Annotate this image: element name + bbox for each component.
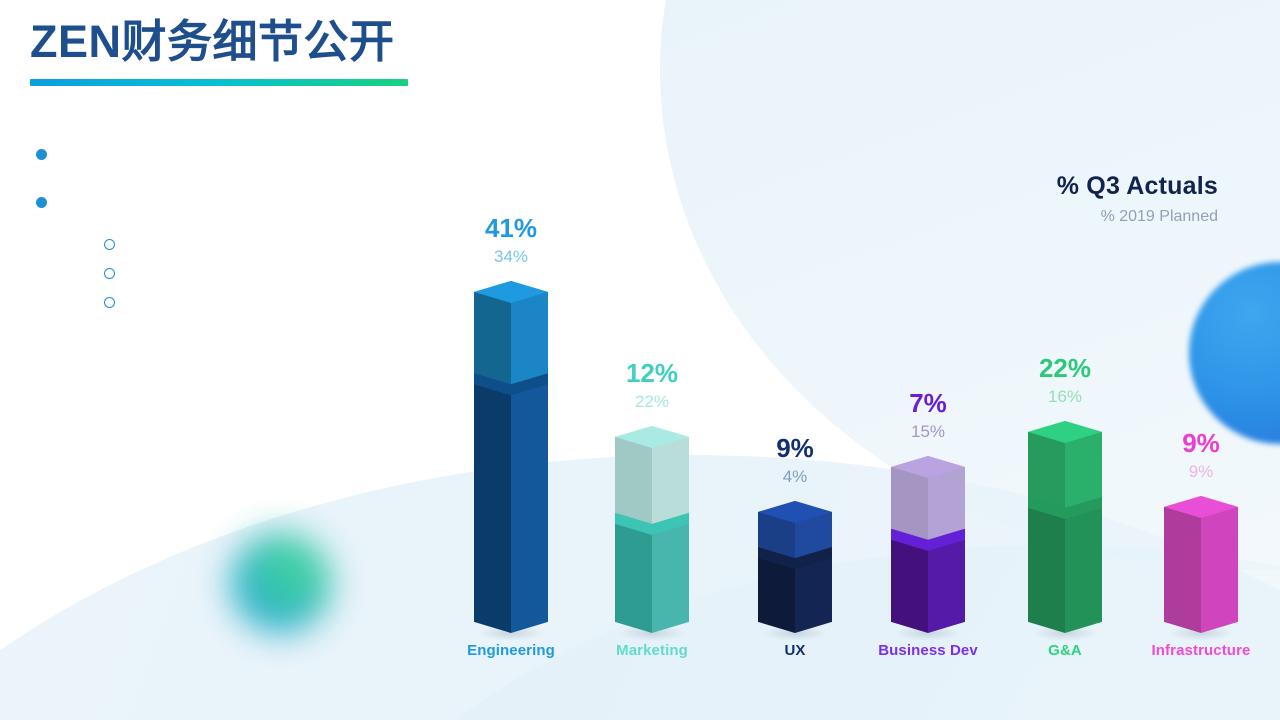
bar-face-right	[1065, 432, 1102, 508]
bar-category-label: G&A	[1000, 642, 1130, 659]
bar-face-right	[652, 524, 689, 622]
bar-value-planned: 4%	[730, 468, 860, 485]
legend-secondary-label: % 2019 Planned	[1057, 208, 1218, 226]
bar-value-planned: 22%	[587, 393, 717, 410]
bar-chart: 41%34%Engineering12%22%Marketing9%4%UX7%…	[420, 170, 1280, 690]
bar-segment-actual	[891, 540, 965, 622]
bar-face-left	[474, 292, 511, 384]
bar-3d-box	[1028, 421, 1102, 633]
bar-segment-planned	[1028, 432, 1102, 508]
bullet-dot-icon	[36, 197, 47, 208]
bar-category-label: Marketing	[587, 642, 717, 659]
bar-value-planned: 9%	[1136, 463, 1266, 480]
bar-value-actual: 7%	[863, 390, 993, 416]
bar-face-left	[474, 384, 511, 622]
bullet-list	[28, 138, 458, 315]
bar-face-left	[891, 467, 928, 540]
chart-legend: % Q3 Actuals % 2019 Planned	[1057, 172, 1218, 226]
bar-face-right	[928, 540, 965, 622]
sub-bullet-ring-icon	[104, 297, 115, 308]
sub-bullet-item	[104, 286, 458, 308]
bar-column[interactable]: 41%34%Engineering	[446, 215, 576, 659]
bar-value-planned: 34%	[446, 248, 576, 265]
bar-column[interactable]: 22%16%G&A	[1000, 355, 1130, 659]
bar-face-right	[928, 467, 965, 540]
title-underline-gradient	[30, 79, 408, 86]
bar-column[interactable]: 7%15%Business Dev	[863, 390, 993, 659]
bar-column[interactable]: 9%4%UX	[730, 435, 860, 659]
bar-value-actual: 9%	[730, 435, 860, 461]
bar-value-actual: 22%	[1000, 355, 1130, 381]
page-title: ZEN财务细节公开	[30, 14, 408, 70]
bar-value-actual: 41%	[446, 215, 576, 241]
bar-face-right	[1065, 508, 1102, 622]
bar-face-left	[615, 437, 652, 524]
sub-bullet-list	[104, 228, 458, 308]
bar-segment-actual	[1028, 508, 1102, 622]
bar-segment-actual	[1164, 507, 1238, 622]
sub-bullet-item	[104, 257, 458, 279]
bar-category-label: Infrastructure	[1136, 642, 1266, 659]
slide-canvas: ZEN财务细节公开 % Q3 Actuals % 2019 Planned 41…	[0, 0, 1280, 720]
bar-face-right	[511, 292, 548, 384]
bar-3d-box	[758, 501, 832, 633]
bar-face-right	[1201, 507, 1238, 622]
bar-column[interactable]: 12%22%Marketing	[587, 360, 717, 659]
bar-category-label: Business Dev	[863, 642, 993, 659]
bar-segment-planned	[615, 437, 689, 524]
sub-bullet-item	[104, 228, 458, 250]
bullet-dot-icon	[36, 149, 47, 160]
title-block: ZEN财务细节公开	[30, 14, 408, 86]
bar-column[interactable]: 9%9%Infrastructure	[1136, 430, 1266, 659]
gradient-circle-green	[231, 533, 331, 633]
bar-face-left	[615, 524, 652, 622]
bar-face-left	[1164, 507, 1201, 622]
bar-3d-box	[474, 281, 548, 633]
bar-face-right	[511, 384, 548, 622]
bar-value-actual: 12%	[587, 360, 717, 386]
bar-segment-actual	[615, 524, 689, 622]
bar-category-label: UX	[730, 642, 860, 659]
sub-bullet-ring-icon	[104, 268, 115, 279]
bar-face-right	[652, 437, 689, 524]
sub-bullet-ring-icon	[104, 239, 115, 250]
bullet-item	[28, 186, 458, 208]
bar-value-planned: 15%	[863, 423, 993, 440]
bullet-item	[28, 138, 458, 160]
bar-value-actual: 9%	[1136, 430, 1266, 456]
bar-segment-actual	[474, 384, 548, 622]
bar-segment-planned	[474, 292, 548, 384]
bar-3d-box	[615, 426, 689, 633]
bar-face-left	[758, 558, 795, 622]
bar-face-left	[891, 540, 928, 622]
bar-value-planned: 16%	[1000, 388, 1130, 405]
bar-face-left	[1028, 432, 1065, 508]
bar-3d-box	[891, 456, 965, 633]
bar-category-label: Engineering	[446, 642, 576, 659]
bar-face-left	[1028, 508, 1065, 622]
bar-face-right	[795, 558, 832, 622]
bar-3d-box	[1164, 496, 1238, 633]
legend-primary-label: % Q3 Actuals	[1057, 172, 1218, 201]
